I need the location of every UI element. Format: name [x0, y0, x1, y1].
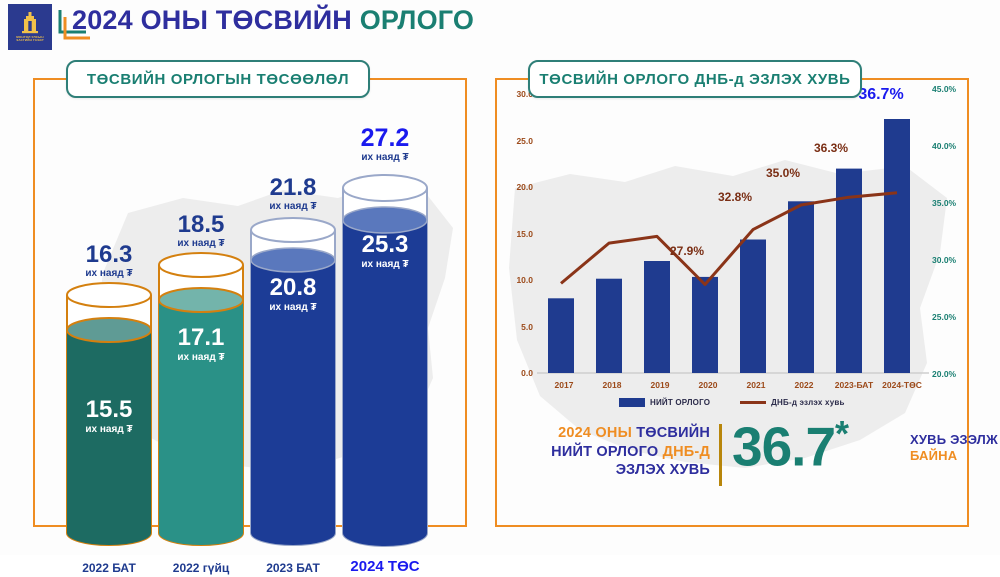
summary-divider — [719, 424, 722, 486]
legend-label-total-revenue: НИЙТ ОРЛОГО — [650, 398, 710, 407]
line-label-2021: 32.8% — [705, 190, 765, 204]
legend-swatch-bar — [619, 398, 645, 407]
y-axis-tick-10: 10.0 — [495, 275, 533, 285]
y2-axis-tick-35: 35.0% — [932, 198, 972, 208]
y-axis-tick-15: 15.0 — [495, 229, 533, 239]
y2-axis-tick-40: 40.0% — [932, 141, 972, 151]
x-axis-label-2017: 2017 — [541, 380, 587, 390]
summary-block: 2024 ОНЫ ТӨСВИЙН НИЙТ ОРЛОГО ДНБ-Д ЭЗЛЭХ… — [510, 420, 960, 500]
x-axis-label-2021: 2021 — [733, 380, 779, 390]
y-axis-tick-0: 0.0 — [495, 368, 533, 378]
legend-item-gdp-share[interactable]: ДНБ-д эзлэх хувь — [740, 398, 844, 407]
summary-caption: 2024 ОНЫ ТӨСВИЙН НИЙТ ОРЛОГО ДНБ-Д ЭЗЛЭХ… — [510, 424, 710, 480]
cylinder-2022-guyts — [157, 253, 245, 551]
y-axis-tick-20: 20.0 — [495, 182, 533, 192]
x-axis-label-2018: 2018 — [589, 380, 635, 390]
legend-label-gdp-share: ДНБ-д эзлэх хувь — [771, 398, 844, 407]
legend-swatch-line — [740, 401, 766, 404]
line-label-2023: 36.3% — [801, 141, 861, 155]
page-title-part1: 2024 ОНЫ ТӨСВИЙН — [72, 5, 352, 35]
cylinder-category-2024-tos: 2024 ТӨС — [331, 558, 439, 577]
summary-value-asterisk: * — [835, 413, 848, 454]
cylinder-filled-label-2023-bat: 20.8 их наяд ₮ — [239, 276, 347, 313]
page-header: МОНГОЛ УЛСЫН ЗАСГИЙН ГАЗАР 2024 ОНЫ ТӨСВ… — [0, 0, 1000, 50]
summary-tail: ХУВЬ ЭЗЭЛЖ БАЙНА — [910, 432, 1000, 463]
summary-tail-b: БАЙНА — [910, 448, 957, 463]
summary-tail-a: ХУВЬ ЭЗЭЛЖ — [910, 432, 998, 447]
summary-line1-b: ТӨСВИЙН — [636, 425, 710, 441]
x-axis-label-2022: 2022 — [781, 380, 827, 390]
x-axis-label-2024-tos: 2024-ТӨС — [871, 380, 933, 390]
y2-axis-tick-30: 30.0% — [932, 255, 972, 265]
y2-axis-tick-20: 20.0% — [932, 369, 972, 379]
summary-line3: ЭЗЛЭХ ХУВЬ — [616, 462, 710, 478]
logo-caption: МОНГОЛ УЛСЫН ЗАСГИЙН ГАЗАР — [9, 36, 51, 43]
page-title-part2: ОРЛОГО — [360, 5, 474, 35]
cylinder-total-label-2022-guyts: 18.5 их наяд ₮ — [147, 213, 255, 249]
x-axis-label-2020: 2020 — [685, 380, 731, 390]
cylinder-2023-bat — [249, 218, 337, 551]
government-logo: МОНГОЛ УЛСЫН ЗАСГИЙН ГАЗАР — [8, 4, 52, 50]
summary-value-number: 36.7 — [732, 415, 835, 477]
x-axis-label-2019: 2019 — [637, 380, 683, 390]
left-panel-title: ТӨСВИЙН ОРЛОГЫН ТӨСӨӨЛӨЛ — [66, 60, 370, 98]
chart-plot — [537, 93, 937, 403]
cylinder-total-label-2023-bat: 21.8 их наяд ₮ — [239, 176, 347, 212]
summary-line2-b: ДНБ-Д — [663, 444, 710, 460]
cylinder-filled-label-2022-guyts: 17.1 их наяд ₮ — [147, 326, 255, 363]
cylinder-total-label-2024-tos: 27.2 их наяд ₮ — [331, 126, 439, 163]
cylinder-chart: 16.3 их наяд ₮ 15.5 их наяд ₮ 2022 БАТ 1… — [33, 78, 463, 523]
y-axis-tick-5: 5.0 — [495, 322, 533, 332]
legend-item-total-revenue[interactable]: НИЙТ ОРЛОГО — [619, 398, 710, 407]
summary-line2-a: НИЙТ ОРЛОГО — [551, 444, 662, 460]
line-label-2020: 27.9% — [657, 244, 717, 258]
line-label-2022: 35.0% — [753, 166, 813, 180]
government-emblem-icon — [22, 12, 38, 34]
chart-legend: НИЙТ ОРЛОГО ДНБ-д эзлэх хувь — [619, 398, 845, 407]
y2-axis-tick-45: 45.0% — [932, 84, 972, 94]
summary-line1-a: 2024 ОНЫ — [558, 425, 636, 441]
summary-value: 36.7* — [732, 416, 848, 474]
cylinder-filled-label-2022-bat: 15.5 их наяд ₮ — [55, 398, 163, 435]
right-panel-title: ТӨСВИЙН ОРЛОГО ДНБ-д ЭЗЛЭХ ХУВЬ — [528, 60, 862, 98]
y-axis-tick-25: 25.0 — [495, 136, 533, 146]
cylinder-filled-label-2024-tos: 25.3 их наяд ₮ — [331, 233, 439, 270]
y2-axis-tick-25: 25.0% — [932, 312, 972, 322]
page-title: 2024 ОНЫ ТӨСВИЙН ОРЛОГО — [72, 5, 474, 36]
y-axis-tick-30: 30.0 — [495, 89, 533, 99]
